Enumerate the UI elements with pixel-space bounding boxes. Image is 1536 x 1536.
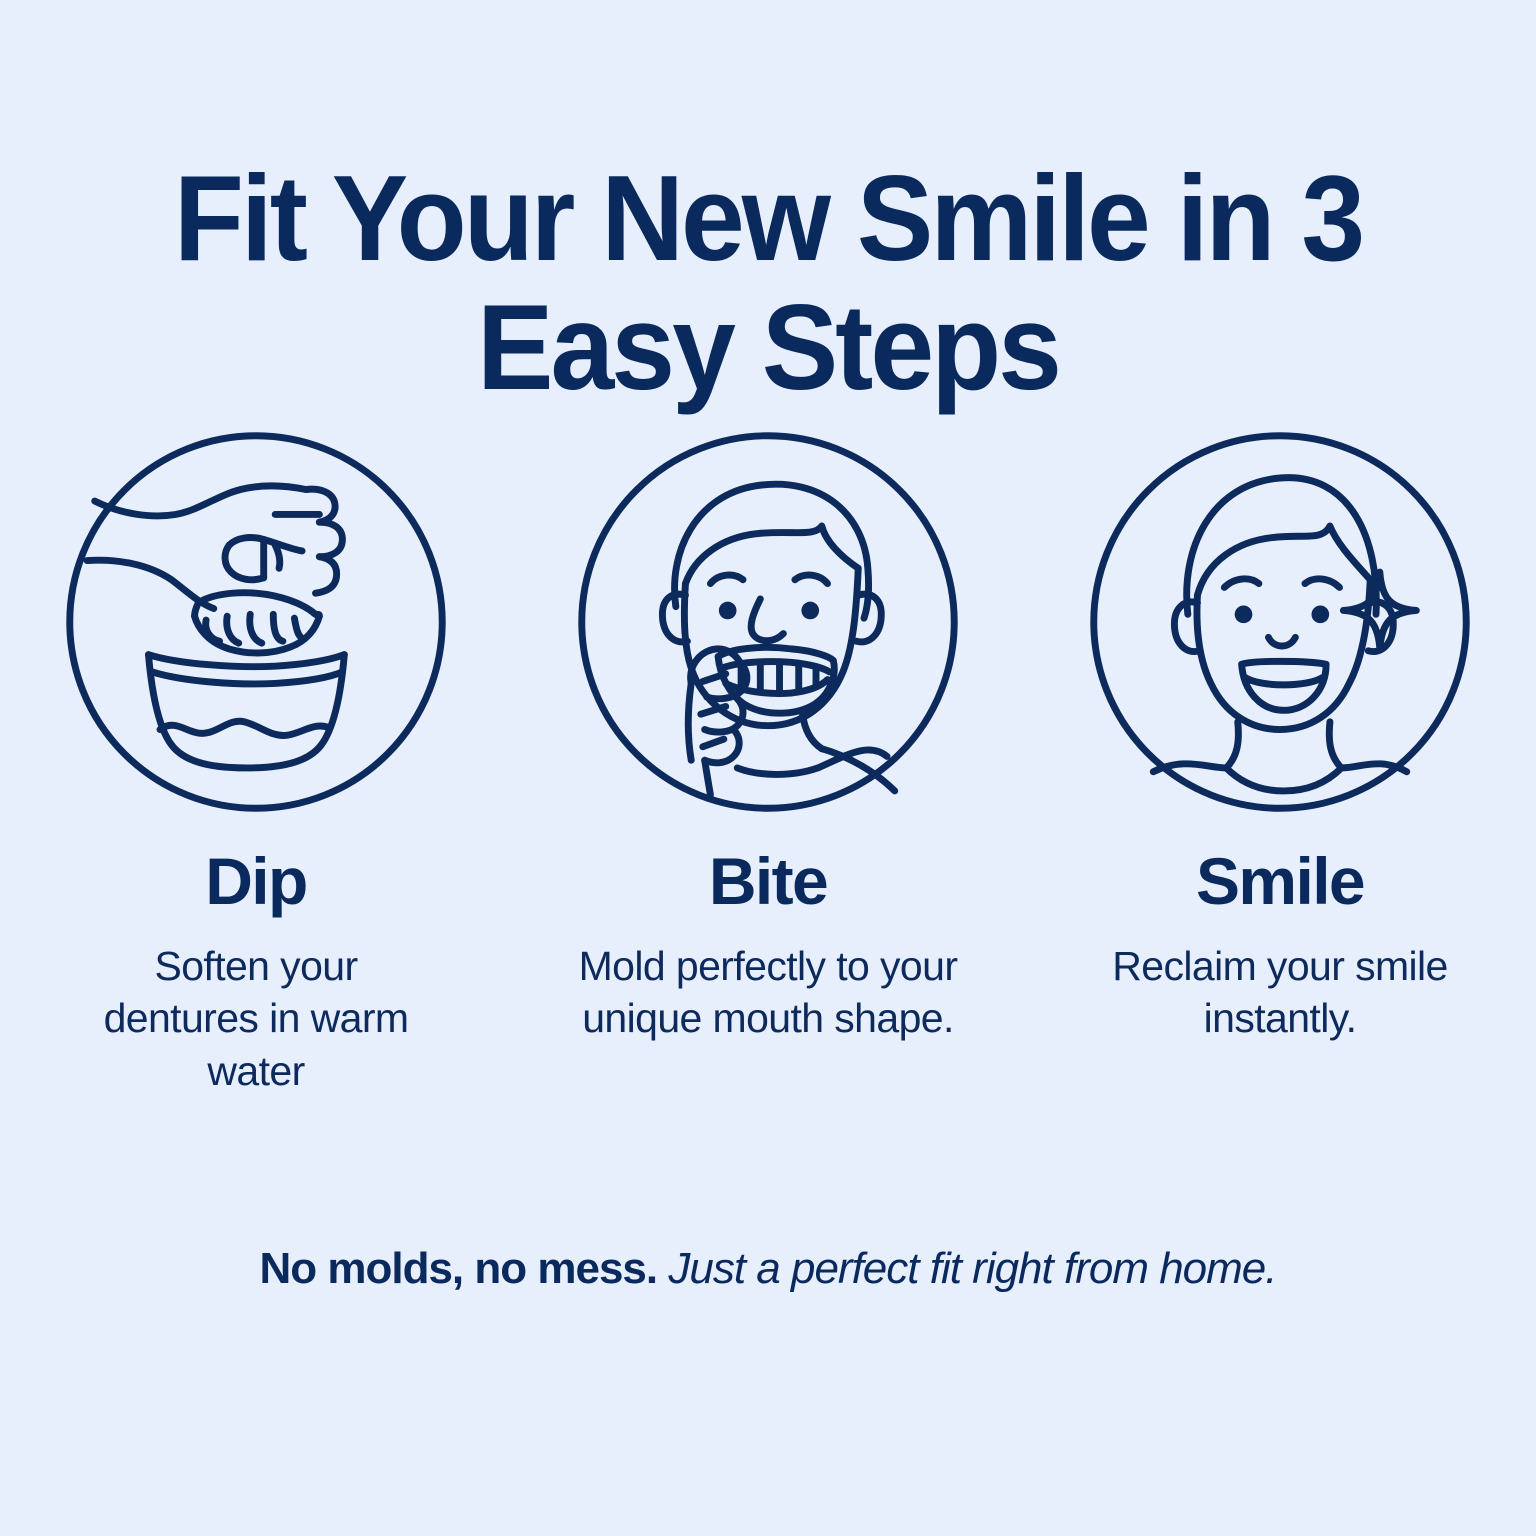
steps-row: Dip Soften your dentures in warm water — [0, 430, 1536, 1097]
step-title-dip: Dip — [205, 848, 307, 914]
step-description-dip: Soften your dentures in warm water — [81, 940, 431, 1097]
step-description-smile: Reclaim your smile instantly. — [1080, 940, 1480, 1045]
smiling-face-with-sparkle-icon — [1088, 430, 1472, 814]
footer-bold-text: No molds, no mess. — [259, 1244, 657, 1293]
footer-tagline: No molds, no mess. Just a perfect fit ri… — [0, 1243, 1536, 1296]
step-card-smile: Smile Reclaim your smile instantly. — [1024, 430, 1536, 1045]
step-card-dip: Dip Soften your dentures in warm water — [0, 430, 512, 1097]
hand-dipping-dentures-in-bowl-icon — [64, 430, 448, 814]
page-title: Fit Your New Smile in 3 Easy Steps — [157, 154, 1379, 413]
footer-italic-text: Just a perfect fit right from home. — [668, 1244, 1276, 1293]
infographic-page: Fit Your New Smile in 3 Easy Steps — [0, 0, 1536, 1536]
step-title-bite: Bite — [709, 848, 827, 914]
step-title-smile: Smile — [1196, 848, 1364, 914]
step-description-bite: Mold perfectly to your unique mouth shap… — [562, 940, 974, 1045]
person-biting-dentures-icon — [576, 430, 960, 814]
step-card-bite: Bite Mold perfectly to your unique mouth… — [512, 430, 1024, 1045]
